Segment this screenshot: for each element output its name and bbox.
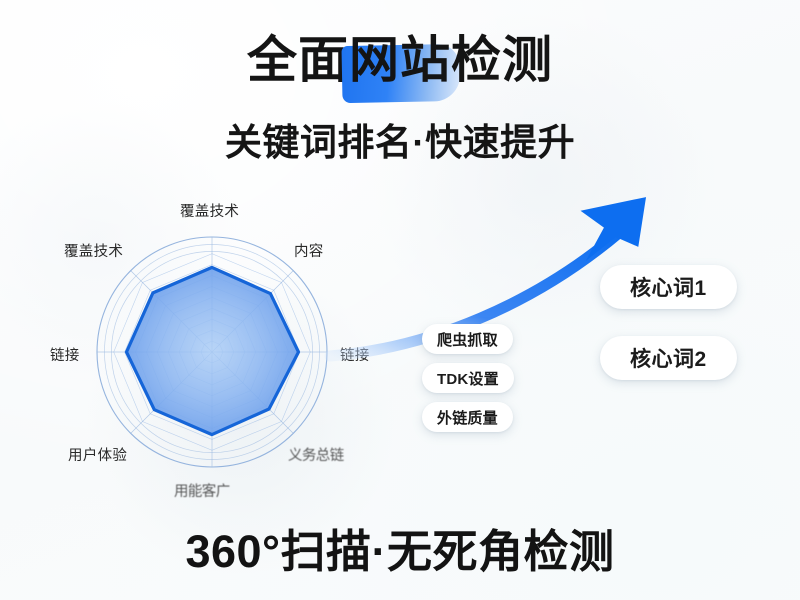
headline-segment-before: 全面 bbox=[247, 32, 349, 88]
radar-axis-label-0: 覆盖技术 bbox=[180, 200, 239, 221]
radar-axis-label-3: 义务总链 bbox=[288, 444, 344, 465]
headline-segment-highlight: 网站 bbox=[349, 32, 451, 88]
keyword-pill-1[interactable]: 核心词2 bbox=[600, 336, 737, 380]
keyword-pill-0[interactable]: 核心词1 bbox=[600, 265, 737, 309]
detail-tag-0[interactable]: 爬虫抓取 bbox=[422, 324, 513, 354]
radar-axis-label-2: 链接 bbox=[340, 344, 370, 365]
radar-axis-label-6: 链接 bbox=[50, 344, 80, 365]
radar-axis-label-1: 内容 bbox=[294, 240, 324, 261]
page-title: 全面网站检测 bbox=[247, 34, 553, 87]
radar-axis-label-5: 用户体验 bbox=[68, 444, 127, 465]
radar-axis-label-7: 覆盖技术 bbox=[64, 240, 123, 261]
poster-canvas: 全面网站检测 关键词排名·快速提升 覆盖技术内容链接义务总链用能客广用户体验链接… bbox=[0, 0, 800, 600]
radar-chart: 覆盖技术内容链接义务总链用能客广用户体验链接覆盖技术 bbox=[62, 196, 382, 508]
radar-axis-label-4: 用能客广 bbox=[174, 480, 230, 501]
subheadline: 关键词排名·快速提升 bbox=[0, 112, 800, 166]
footer-headline: 360°扫描·无死角检测 bbox=[0, 515, 800, 580]
detail-tag-1[interactable]: TDK设置 bbox=[422, 363, 514, 393]
detail-tag-2[interactable]: 外链质量 bbox=[422, 402, 513, 432]
headline-segment-after: 检测 bbox=[451, 32, 553, 88]
headline-container: 全面网站检测 bbox=[0, 34, 800, 87]
